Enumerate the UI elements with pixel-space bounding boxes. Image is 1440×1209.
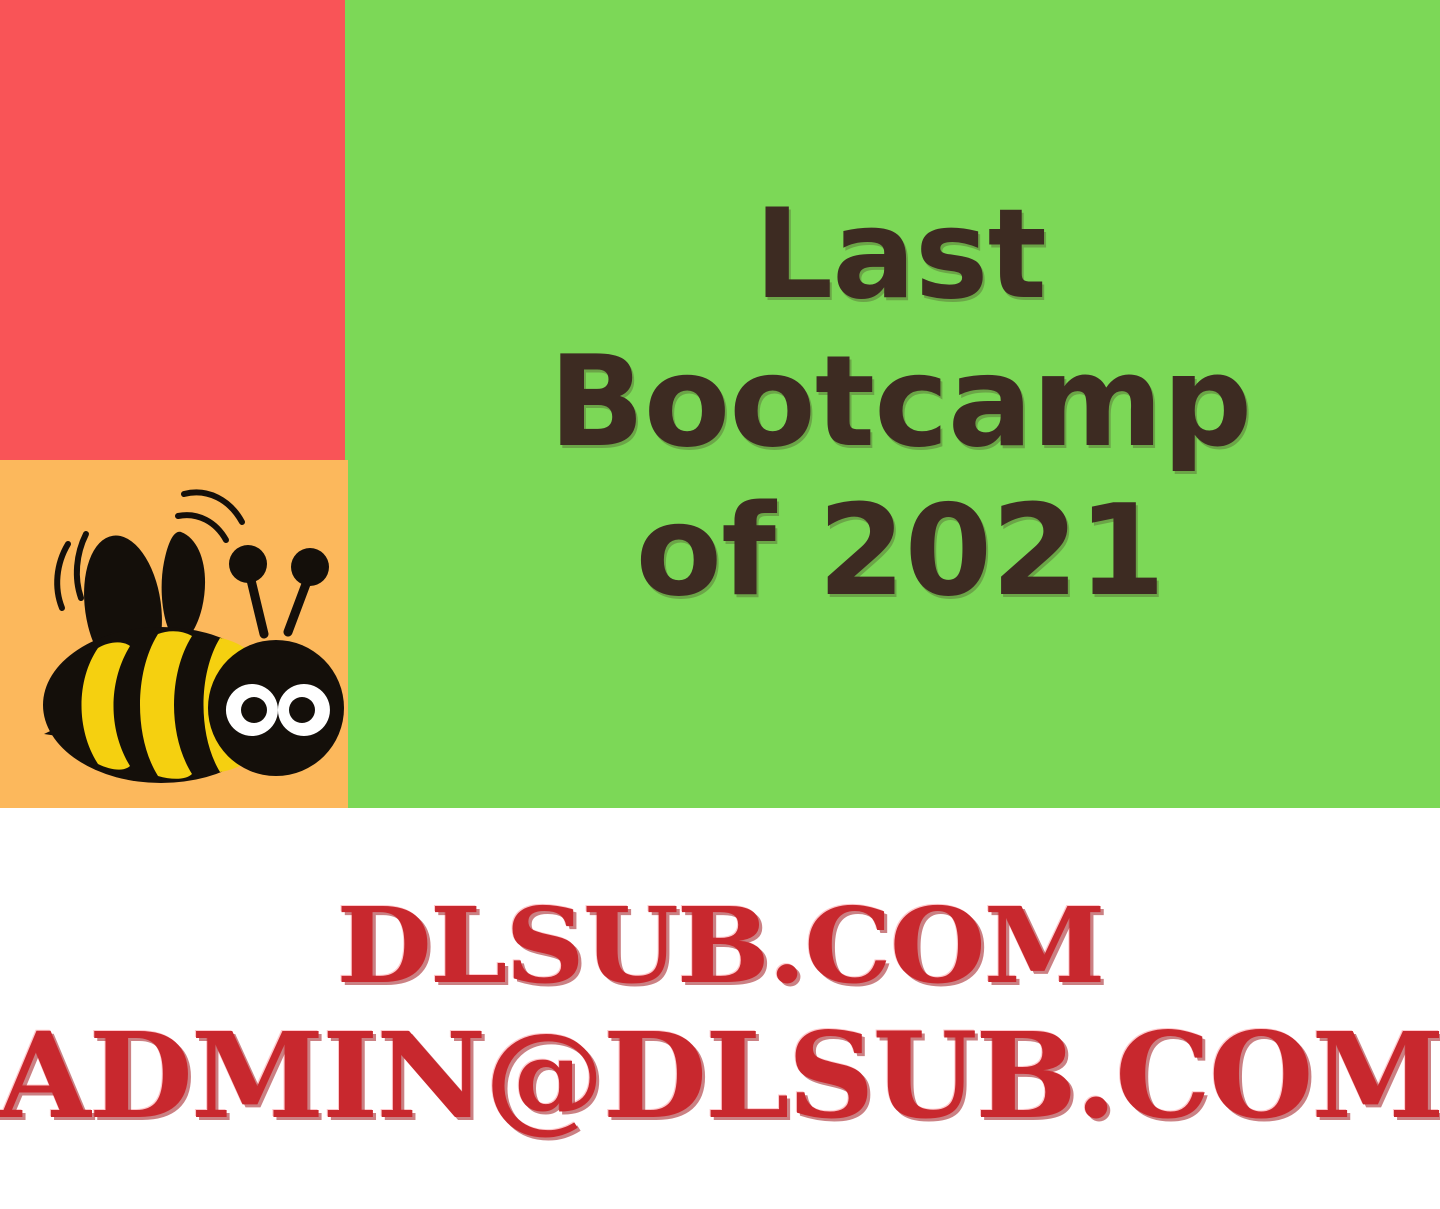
antenna-tip-right	[291, 548, 329, 586]
watermark-email: ADMIN@DLSUB.COM	[0, 1006, 1440, 1145]
watermark-site: DLSUB.COM	[336, 884, 1103, 1007]
motion-lines-right	[178, 492, 242, 540]
promo-banner: Last Bootcamp of 2021	[0, 0, 1440, 808]
headline-block: Last Bootcamp of 2021	[360, 0, 1440, 808]
headline-line-1: Last	[754, 182, 1046, 328]
antenna-tip-left	[229, 545, 267, 583]
red-swatch	[0, 0, 345, 460]
bee-antennae	[251, 580, 306, 634]
motion-lines-left	[57, 534, 86, 608]
headline-line-3: of 2021	[636, 477, 1165, 626]
headline-line-2: Bootcamp	[549, 328, 1252, 477]
watermark-block: DLSUB.COM ADMIN@DLSUB.COM	[0, 808, 1440, 1209]
bee-illustration	[6, 452, 358, 808]
